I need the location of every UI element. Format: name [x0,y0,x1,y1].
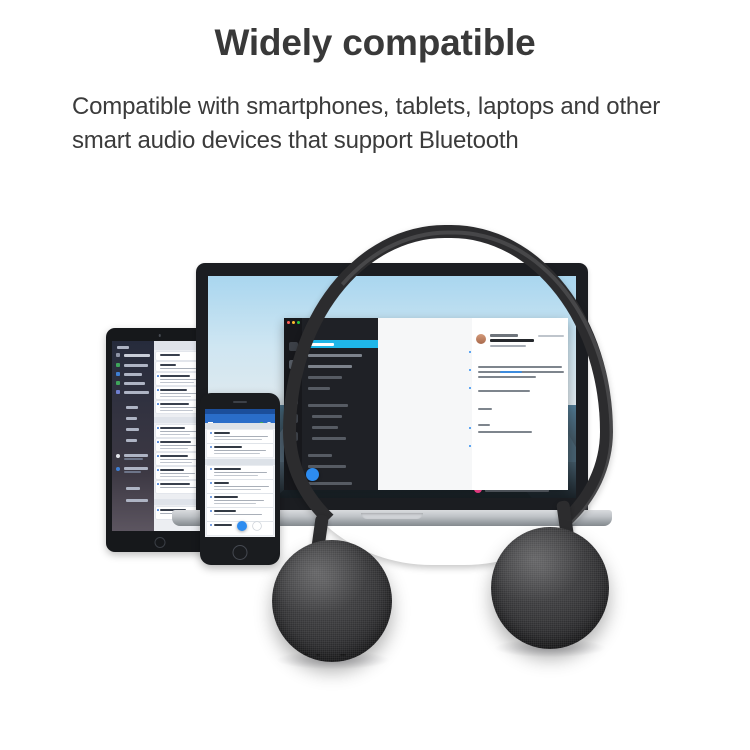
window-traffic-lights[interactable] [287,321,300,324]
list-section-header [205,423,275,429]
list-section-header [205,459,275,465]
minimize-icon[interactable] [292,321,295,324]
compose-fab[interactable] [237,521,247,531]
mail-folder-nav [302,318,378,490]
secondary-action-button[interactable] [253,522,261,530]
mail-app-rail [284,318,302,490]
smartphone-device [200,393,280,565]
list-item[interactable] [207,444,273,457]
sender-avatar [476,334,486,344]
product-marketing-banner: Widely compatible Compatible with smartp… [0,0,750,750]
page-subcopy: Compatible with smartphones, tablets, la… [72,90,702,158]
calendar-icon[interactable] [289,378,298,387]
maximize-icon[interactable] [297,321,300,324]
mail-icon[interactable] [289,360,298,369]
list-item[interactable] [207,480,273,493]
settings-icon[interactable] [289,432,298,441]
page-title: Widely compatible [0,22,750,64]
mail-message-list[interactable] [378,318,472,490]
laptop-trackpad-notch [361,513,423,519]
tablet-home-button[interactable] [154,537,165,548]
files-icon[interactable] [289,414,298,423]
mail-app-window [284,318,568,490]
headphone-left-earcup [272,540,392,662]
right-earcup-shadow [495,639,605,657]
tablet-folder-sidebar [112,341,154,531]
list-item[interactable] [207,508,273,521]
mail-reading-pane [472,318,568,490]
product-photo-stage [0,215,750,750]
search-icon[interactable] [289,342,298,351]
tablet-camera-icon [158,334,161,337]
list-item[interactable] [207,494,273,507]
email-timestamp [538,335,564,337]
headphone-right-earcup [491,527,609,649]
list-item[interactable] [207,466,273,479]
phone-screen [205,409,275,537]
phone-earpiece-speaker [233,401,247,403]
phone-app-bar [205,414,275,423]
compose-fab[interactable] [306,468,319,481]
left-earcup-shadow [277,651,389,669]
close-icon[interactable] [287,321,290,324]
people-icon[interactable] [289,396,298,405]
tablet-screen [112,341,207,531]
phone-home-button[interactable] [233,545,248,560]
email-subject [490,339,534,342]
list-item[interactable] [207,430,273,443]
